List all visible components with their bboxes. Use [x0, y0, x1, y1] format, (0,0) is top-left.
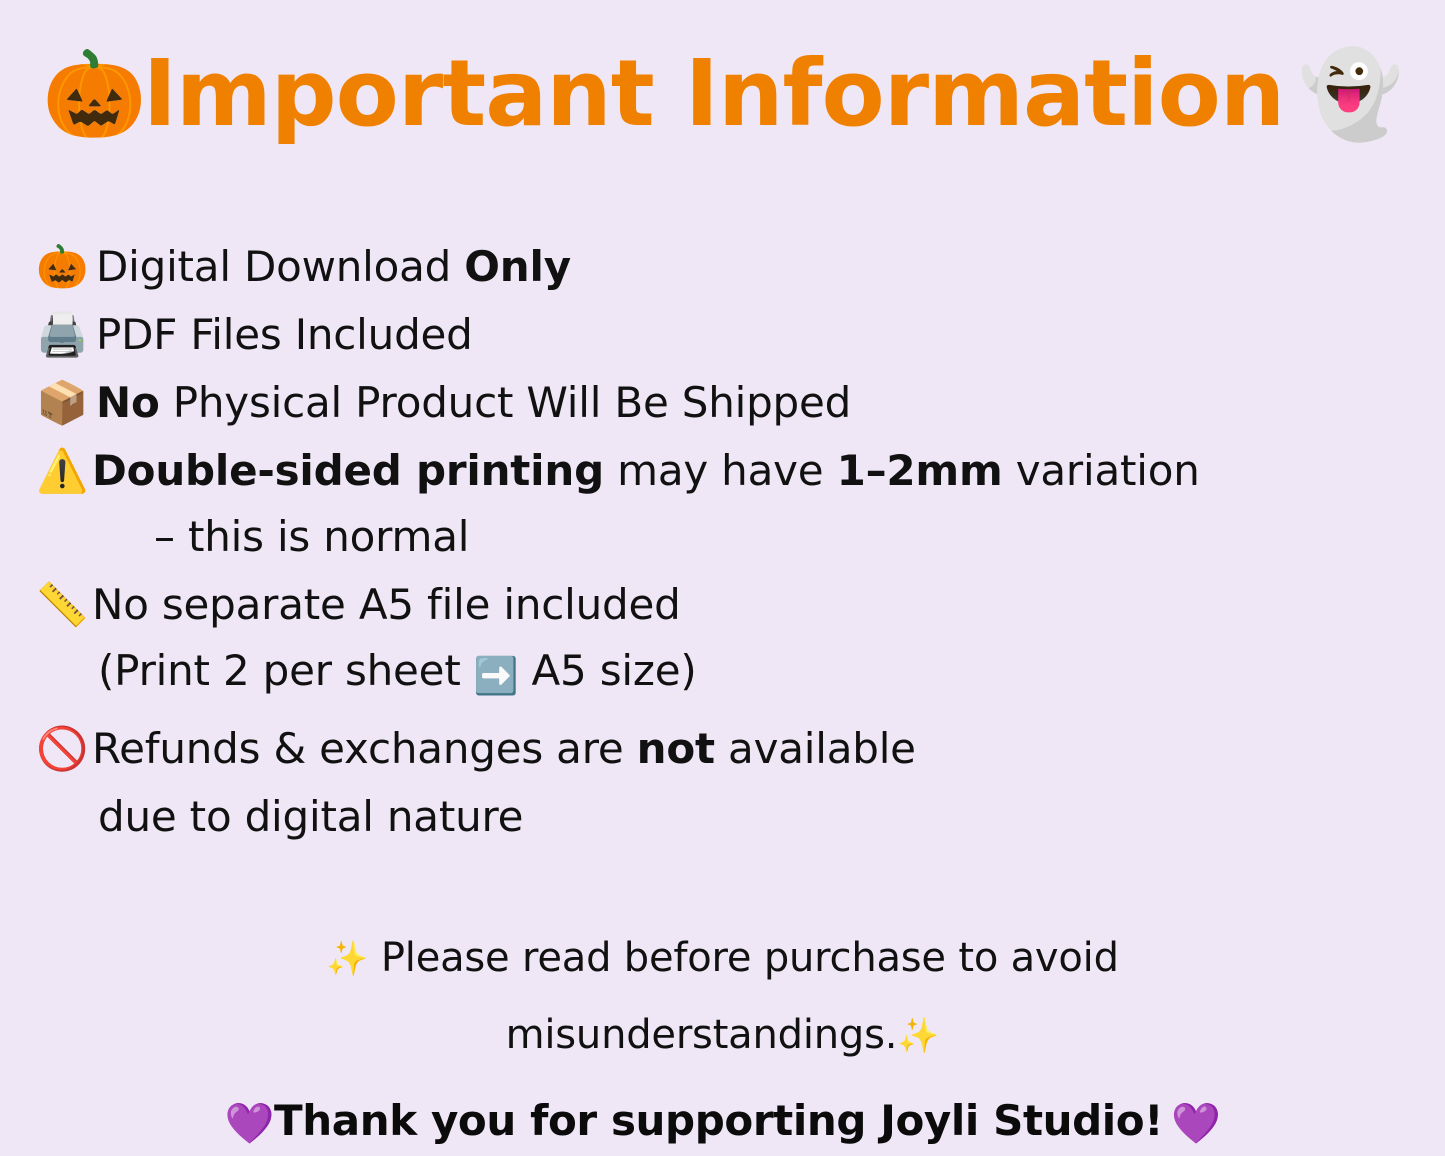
- list-item-label: PDF Files Included: [96, 304, 473, 366]
- list-item-text-before: Digital Download: [96, 242, 464, 291]
- footer-note-line-2: misunderstandings.✨: [0, 997, 1445, 1074]
- list-item: 📏 No separate A5 file included: [36, 574, 1416, 636]
- list-item-label: Digital Download Only: [96, 236, 571, 298]
- footer-note-text-1: Please read before purchase to avoid: [381, 935, 1119, 981]
- list-item: 📦 No Physical Product Will Be Shipped: [36, 372, 1416, 434]
- prohibited-icon: 🚫: [36, 718, 92, 780]
- sparkles-icon: ✨: [326, 939, 368, 979]
- list-item-continuation: – this is normal: [36, 506, 1416, 568]
- list-item-text-bold-1: Double-sided printing: [92, 446, 604, 495]
- sparkles-icon: ✨: [897, 1016, 939, 1056]
- information-list: 🎃 Digital Download Only 🖨️ PDF Files Inc…: [36, 236, 1416, 848]
- list-item-text-bold: not: [637, 724, 715, 773]
- list-item-text-after: available: [715, 724, 916, 773]
- list-item: 🚫 Refunds & exchanges are not available: [36, 718, 1416, 780]
- continuation-text-after: A5 size): [518, 646, 696, 695]
- list-item-text-bold: No: [96, 378, 160, 427]
- list-item: 🎃 Digital Download Only: [36, 236, 1416, 298]
- list-item-text-bold-2: 1–2mm: [837, 446, 1003, 495]
- list-item-continuation-label: due to digital nature: [98, 786, 523, 848]
- jack-o-lantern-icon: 🎃: [42, 52, 147, 136]
- list-item-label: No Physical Product Will Be Shipped: [96, 372, 851, 434]
- list-item: 🖨️ PDF Files Included: [36, 304, 1416, 366]
- list-item-text-before: Refunds & exchanges are: [92, 724, 637, 773]
- footer: ✨ Please read before purchase to avoid m…: [0, 920, 1445, 1155]
- page-title-text: Important Information: [143, 44, 1285, 143]
- ghost-icon: 👻: [1298, 52, 1403, 136]
- jack-o-lantern-icon: 🎃: [36, 236, 96, 298]
- page-title: 🎃 Important Information 👻: [0, 44, 1445, 143]
- printer-icon: 🖨️: [36, 304, 96, 366]
- continuation-text-before: (Print 2 per sheet: [98, 646, 474, 695]
- purple-heart-icon: 💜: [225, 1101, 274, 1147]
- straight-ruler-icon: 📏: [36, 574, 92, 636]
- warning-triangle-icon: ⚠️: [36, 440, 92, 502]
- list-item-label: No separate A5 file included: [92, 574, 681, 636]
- list-item: ⚠️ Double-sided printing may have 1–2mm …: [36, 440, 1416, 502]
- list-item-label: Double-sided printing may have 1–2mm var…: [92, 440, 1200, 502]
- list-item-text-tail: variation: [1003, 446, 1200, 495]
- package-icon: 📦: [36, 372, 96, 434]
- list-item-label: Refunds & exchanges are not available: [92, 718, 916, 780]
- purple-heart-icon: 💜: [1171, 1101, 1220, 1147]
- footer-note-text-2: misunderstandings.: [506, 1012, 898, 1058]
- thank-you-text: Thank you for supporting Joyli Studio!: [274, 1096, 1163, 1145]
- right-arrow-icon: ➡️: [474, 656, 519, 697]
- list-item-continuation-label: – this is normal: [154, 506, 469, 568]
- list-item-text-after: Physical Product Will Be Shipped: [160, 378, 852, 427]
- information-page: 🎃 Important Information 👻 🎃 Digital Down…: [0, 0, 1445, 1156]
- list-item-text-bold: Only: [464, 242, 571, 291]
- list-item-continuation-label: (Print 2 per sheet ➡️ A5 size): [98, 640, 697, 708]
- list-item-text-mid: may have: [604, 446, 837, 495]
- thank-you-line: 💜Thank you for supporting Joyli Studio!💜: [0, 1090, 1445, 1155]
- list-item-continuation: (Print 2 per sheet ➡️ A5 size): [36, 640, 1416, 708]
- footer-note-line-1: ✨ Please read before purchase to avoid: [0, 920, 1445, 997]
- list-item-continuation: due to digital nature: [36, 786, 1416, 848]
